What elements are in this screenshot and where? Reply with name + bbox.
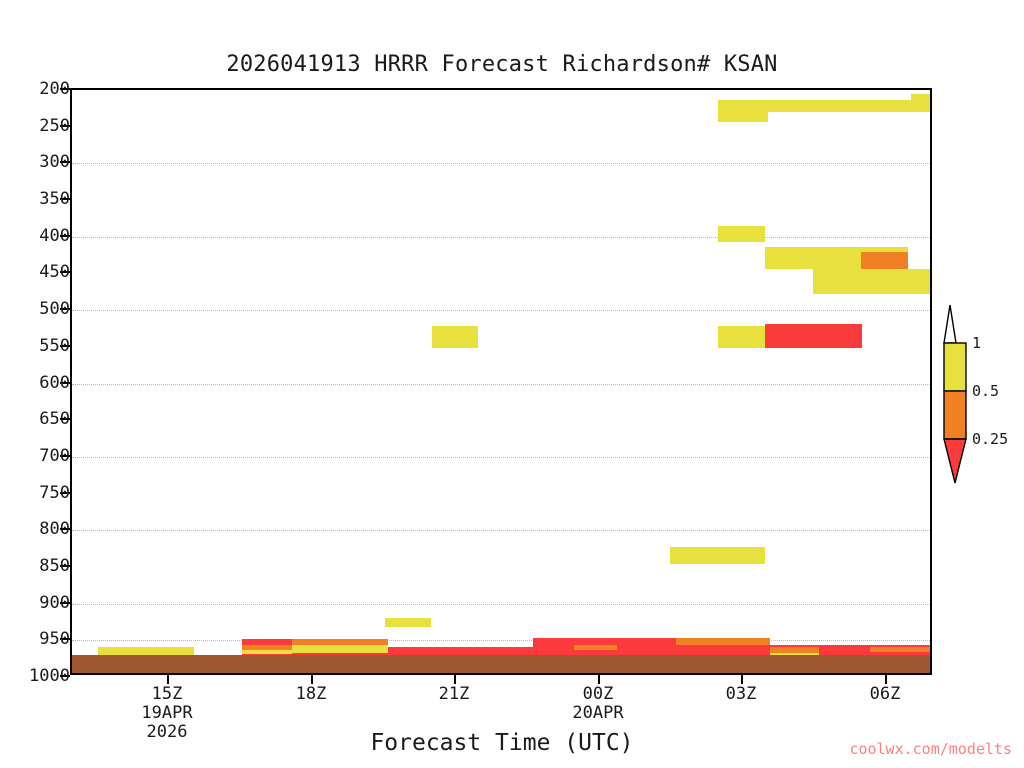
y-axis: 2002503003504004505005506006507007508008… [0,88,70,675]
x-tick-label: 21Z [439,685,470,704]
colorbar-segment-orange [944,391,966,439]
gridline [72,640,930,642]
credit-watermark: coolwx.com/modelts [849,740,1012,758]
heatmap-cell [768,100,911,112]
page-title: 2026041913 HRRR Forecast Richardson# KSA… [0,52,1004,77]
y-tick-label: 500 [8,299,70,319]
heatmap-cell [670,547,765,564]
gridline [72,384,930,386]
y-tick-label: 600 [8,373,70,393]
chart-root: 2026041913 HRRR Forecast Richardson# KSA… [0,0,1024,768]
colorbar-segment-yellow [944,343,966,391]
heatmap-cell [718,100,768,122]
colorbar-arrow-bottom-icon [944,439,966,483]
gridline [72,163,930,165]
x-tick-label: 03Z [726,685,757,704]
plot-inner [72,90,930,673]
gridline [72,530,930,532]
heatmap-cell [911,94,932,112]
x-tick-label: 18Z [296,685,327,704]
gridline [72,237,930,239]
richardson-number-colorbar: 1 0.5 0.25 [940,305,1020,485]
x-tick-mark [885,675,887,684]
heatmap-cell [718,326,765,348]
colorbar-tick-0.25: 0.25 [972,430,1008,448]
y-tick-label: 350 [8,189,70,209]
y-tick-label: 1000 [8,666,70,686]
y-tick-label: 800 [8,519,70,539]
y-tick-label: 650 [8,409,70,429]
colorbar-tick-0.5: 0.5 [972,382,999,400]
heatmap-cell [385,618,431,627]
gridline [72,457,930,459]
terrain-band [72,655,930,673]
heatmap-cell [718,226,765,242]
y-tick-label: 300 [8,152,70,172]
x-tick-label: 00Z20APR [572,685,623,723]
x-tick-mark [454,675,456,684]
colorbar-arrow-top-icon [944,305,956,343]
heatmap-cell [676,638,770,645]
y-tick-label: 700 [8,446,70,466]
plot-area [70,88,932,675]
x-tick-mark [311,675,313,684]
heatmap-cell [870,647,932,652]
gridline [72,604,930,606]
y-tick-label: 250 [8,116,70,136]
heatmap-cell [861,252,908,269]
heatmap-cell [574,645,617,650]
y-tick-label: 850 [8,556,70,576]
y-tick-label: 450 [8,262,70,282]
y-tick-label: 900 [8,593,70,613]
x-tick-mark [167,675,169,684]
y-tick-label: 950 [8,629,70,649]
heatmap-cell [908,269,932,294]
x-tick-mark [741,675,743,684]
heatmap-cell [765,324,862,348]
y-tick-label: 200 [8,79,70,99]
heatmap-cell [432,326,478,348]
x-tick-label: 06Z [870,685,901,704]
colorbar-tick-1: 1 [972,334,981,352]
x-tick-mark [598,675,600,684]
y-tick-label: 550 [8,336,70,356]
gridline [72,310,930,312]
y-tick-label: 750 [8,483,70,503]
y-tick-label: 400 [8,226,70,246]
